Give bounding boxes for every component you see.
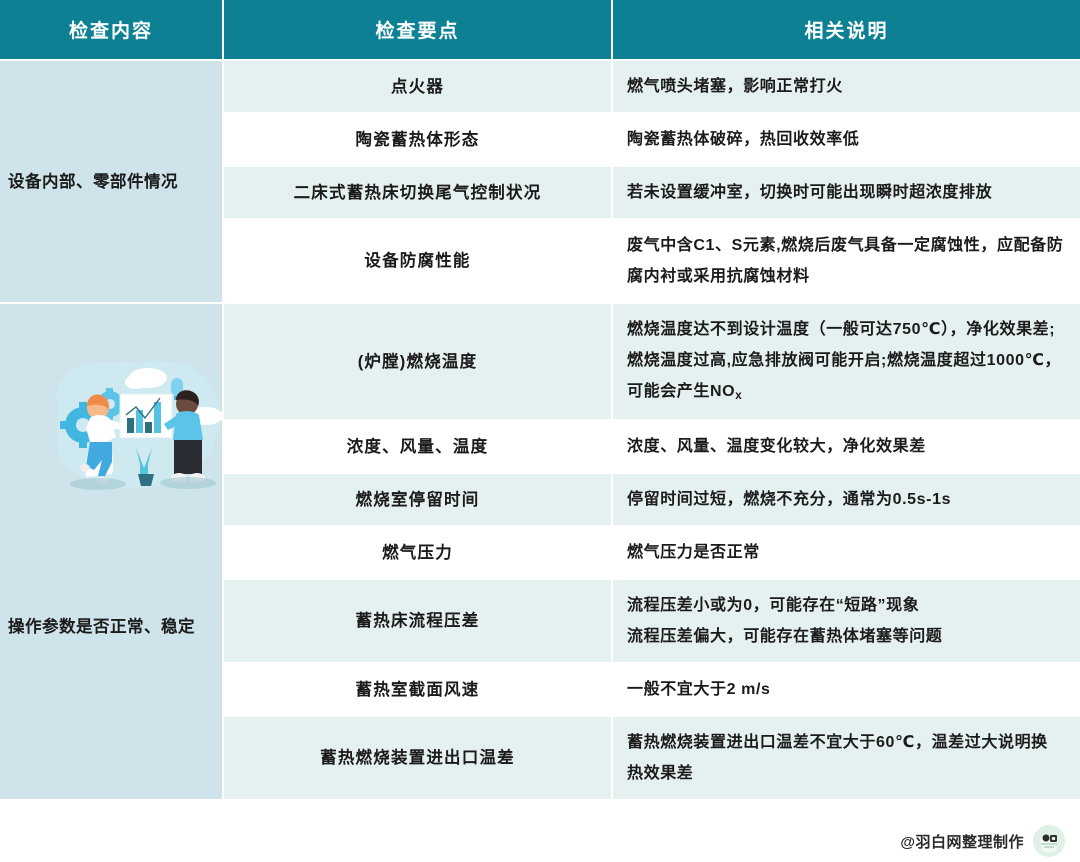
note-cell: 流程压差小或为0，可能存在“短路”现象流程压差偏大，可能存在蓄热体堵塞等问题 xyxy=(612,579,1080,663)
category-cell-equipment: 设备内部、零部件情况 xyxy=(0,60,223,303)
note-cell: 浓度、风量、温度变化较大，净化效果差 xyxy=(612,420,1080,473)
table-row: 设备内部、零部件情况 点火器 燃气喷头堵塞，影响正常打火 xyxy=(0,60,1080,113)
header-cell-points: 检查要点 xyxy=(223,0,612,60)
yubai-logo xyxy=(1032,824,1066,858)
note-cell: 燃烧温度达不到设计温度（一般可达750℃），净化效果差;燃烧温度过高,应急排放阀… xyxy=(612,303,1080,420)
note-cell: 废气中含C1、S元素,燃烧后废气具备一定腐蚀性，应配备防腐内衬或采用抗腐蚀材料 xyxy=(612,219,1080,303)
credit-text: @羽白网整理制作 xyxy=(900,831,1024,852)
point-cell: 设备防腐性能 xyxy=(223,219,612,303)
table-header: 检查内容 检查要点 相关说明 xyxy=(0,0,1080,60)
point-cell: 燃烧室停留时间 xyxy=(223,473,612,526)
point-cell: 浓度、风量、温度 xyxy=(223,420,612,473)
header-cell-notes: 相关说明 xyxy=(612,0,1080,60)
point-cell: 蓄热室截面风速 xyxy=(223,663,612,716)
note-cell: 陶瓷蓄热体破碎，热回收效率低 xyxy=(612,113,1080,166)
category-cell-parameters: 操作参数是否正常、稳定 xyxy=(0,303,223,800)
footer-bar: @羽白网整理制作 xyxy=(0,820,1080,862)
category-label: 操作参数是否正常、稳定 xyxy=(8,612,212,642)
note-cell: 若未设置缓冲室，切换时可能出现瞬时超浓度排放 xyxy=(612,166,1080,219)
note-cell: 燃气喷头堵塞，影响正常打火 xyxy=(612,60,1080,113)
point-cell: 二床式蓄热床切换尾气控制状况 xyxy=(223,166,612,219)
point-cell: 点火器 xyxy=(223,60,612,113)
note-cell: 停留时间过短，燃烧不充分，通常为0.5s-1s xyxy=(612,473,1080,526)
infographic-table-sheet: 检查内容 检查要点 相关说明 设备内部、零部件情况 点火器 燃气喷头堵塞，影响正… xyxy=(0,0,1080,862)
header-row: 检查内容 检查要点 相关说明 xyxy=(0,0,1080,60)
category-label: 设备内部、零部件情况 xyxy=(8,167,212,197)
table-row: 操作参数是否正常、稳定 (炉膛)燃烧温度 燃烧温度达不到设计温度（一般可达750… xyxy=(0,303,1080,420)
point-cell: 蓄热燃烧装置进出口温差 xyxy=(223,716,612,800)
note-cell: 一般不宜大于2 m/s xyxy=(612,663,1080,716)
point-cell: 燃气压力 xyxy=(223,526,612,579)
header-cell-content: 检查内容 xyxy=(0,0,223,60)
note-cell: 燃气压力是否正常 xyxy=(612,526,1080,579)
point-cell: 陶瓷蓄热体形态 xyxy=(223,113,612,166)
point-cell: (炉膛)燃烧温度 xyxy=(223,303,612,420)
inspection-table: 检查内容 检查要点 相关说明 设备内部、零部件情况 点火器 燃气喷头堵塞，影响正… xyxy=(0,0,1080,801)
point-cell: 蓄热床流程压差 xyxy=(223,579,612,663)
table-body: 设备内部、零部件情况 点火器 燃气喷头堵塞，影响正常打火 陶瓷蓄热体形态 陶瓷蓄… xyxy=(0,60,1080,800)
note-cell: 蓄热燃烧装置进出口温差不宜大于60℃，温差过大说明换热效果差 xyxy=(612,716,1080,800)
